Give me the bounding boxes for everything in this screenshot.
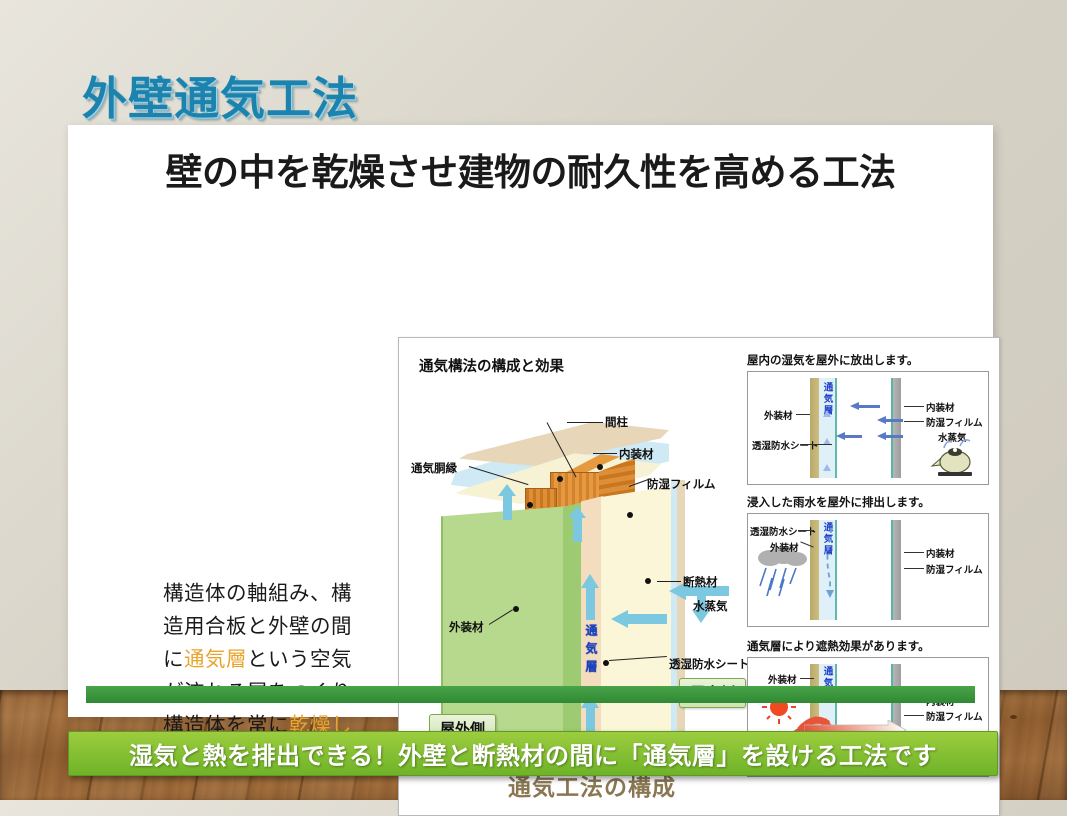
body-line-1: 構造体の軸組み、構: [163, 577, 385, 610]
cs2-label-naisouzai: 内装材: [926, 546, 955, 560]
cs1-interior: [893, 378, 901, 478]
iso-label-mabashira: 間柱: [605, 414, 628, 430]
iso-label-ventilation-layer-vertical: 通気層: [585, 624, 597, 678]
sub-panel-2-heading: 浸入した雨水を屋外に排出します。: [747, 494, 989, 510]
cs3-leader-gaisouzai: [800, 678, 814, 679]
cs3-label-gaisouzai: 外装材: [768, 672, 797, 686]
sub-panel-rain-drain: 浸入した雨水を屋外に排出します。 通気層: [747, 494, 989, 627]
cs2-drain-arrow: [818, 526, 840, 612]
cs1-vapour-shaft-2: [885, 419, 903, 422]
cs2-label-film: 防湿フィルム: [926, 562, 983, 576]
sub-panel-1-heading: 屋内の湿気を屋外に放出します。: [747, 352, 989, 368]
iso-dot-dannetsuzai: [645, 578, 651, 584]
cs2-leader-toushitsu: [798, 530, 814, 531]
sub-panel-1-box: 通気層: [747, 371, 989, 485]
cs1-label-gaisouzai: 外装材: [764, 408, 793, 422]
content-panel: 壁の中を乾燥させ建物の耐久性を高める工法 構造体の軸組み、構 造用合板と外壁の間…: [68, 125, 993, 717]
cs2-leader-film: [904, 568, 924, 569]
iso-leader-dannetsuzai: [657, 581, 681, 582]
cs1-vapour-head-2: [877, 416, 886, 424]
cs3-label-film: 防湿フィルム: [926, 709, 983, 723]
bottom-banner-text: 湿気と熱を排出できる！外壁と断熱材の間に「通気層」を設ける工法です: [129, 736, 937, 771]
body-line-3: に通気層という空気: [163, 643, 385, 676]
highlight-ventilation-layer: 通気層: [184, 648, 247, 671]
cs1-leader-toushitsu: [800, 444, 832, 445]
iso-label-gaisouzai: 外装材: [449, 619, 484, 635]
subtitle: 壁の中を乾燥させ建物の耐久性を高める工法: [68, 142, 993, 196]
cs3-leader-film: [904, 715, 924, 716]
cs1-leader-film: [904, 421, 924, 422]
iso-dot-doubuchi: [527, 502, 533, 508]
rain-cloud-icon: [754, 544, 814, 614]
iso-leader-mabashira: [567, 422, 603, 423]
iso-air-arrow-top-1: [503, 494, 512, 520]
cs2-label-gaisouzai: 外装材: [770, 540, 799, 554]
iso-air-arrow-top-2-head: [568, 506, 586, 518]
iso-film-layer: [677, 480, 685, 756]
cs1-leader-naisouzai: [904, 406, 924, 407]
sub-panel-2-box: 通気層: [747, 513, 989, 627]
iso-label-suijouki: 水蒸気: [693, 598, 728, 614]
iso-air-arrow-top-1-head: [498, 484, 516, 496]
cs2-label-toushitsu: 透湿防水シート: [750, 524, 817, 538]
iso-leader-naisouzai: [593, 453, 617, 454]
cs1-label-toushitsu: 透湿防水シート: [752, 438, 819, 452]
body-line-2: 造用合板と外壁の間: [163, 610, 385, 643]
iso-dot-naisouzai: [597, 464, 603, 470]
bottom-banner: 湿気と熱を排出できる！外壁と断熱材の間に「通気層」を設ける工法です: [68, 731, 998, 776]
cs1-vapour-shaft-1: [858, 405, 880, 408]
iso-vapour-arrow-head-1: [611, 610, 628, 628]
iso-label-boushitsu-film: 防湿フィルム: [647, 476, 716, 492]
kettle-icon: [930, 432, 986, 480]
cs1-vapour-head-1: [850, 402, 859, 410]
cs2-interior: [893, 520, 901, 620]
cs1-vapour-head-4: [877, 432, 886, 440]
cs1-vapour-shaft-4: [885, 435, 903, 438]
iso-air-arrow-up-1-head: [581, 574, 599, 588]
iso-label-doubuchi: 通気胴縁: [411, 460, 457, 476]
iso-dot-boushitsu-film: [627, 512, 633, 518]
iso-dot-toushitsu-sheet: [603, 660, 609, 666]
cs1-label-film: 防湿フィルム: [926, 415, 983, 429]
panel-accent-bar: [86, 686, 975, 703]
iso-dot-mabashira: [557, 476, 563, 482]
iso-label-dannetsuzai: 断熱材: [683, 574, 718, 590]
iso-label-naisouzai: 内装材: [619, 446, 654, 462]
figure-title: 通気構法の構成と効果: [419, 355, 564, 376]
cs1-label-naisouzai: 内装材: [926, 400, 955, 414]
iso-label-toushitsu-sheet: 透湿防水シート: [669, 656, 750, 672]
cs2-leader-naisouzai: [904, 552, 924, 553]
cs1-vapour-shaft-3: [844, 435, 862, 438]
iso-dot-gaisouzai: [513, 606, 519, 612]
cs1-vapour-head-3: [836, 432, 845, 440]
cs1-siding: [810, 378, 819, 478]
cs1-sheet: [835, 378, 837, 478]
cs1-arrow-up-3: [823, 464, 831, 471]
page-title: 外壁通気工法: [82, 62, 358, 127]
sub-panel-vapour-release: 屋内の湿気を屋外に放出します。 通気層: [747, 352, 989, 485]
iso-air-arrow-top-2: [573, 516, 582, 542]
cs1-leader-gaisouzai: [796, 414, 810, 415]
iso-vapour-arrow-shaft-1: [627, 614, 667, 624]
cs1-arrow-up-1: [823, 410, 831, 417]
iso-air-arrow-up-1: [586, 586, 595, 620]
sub-panel-3-heading: 通気層により遮熱効果があります。: [747, 638, 989, 654]
